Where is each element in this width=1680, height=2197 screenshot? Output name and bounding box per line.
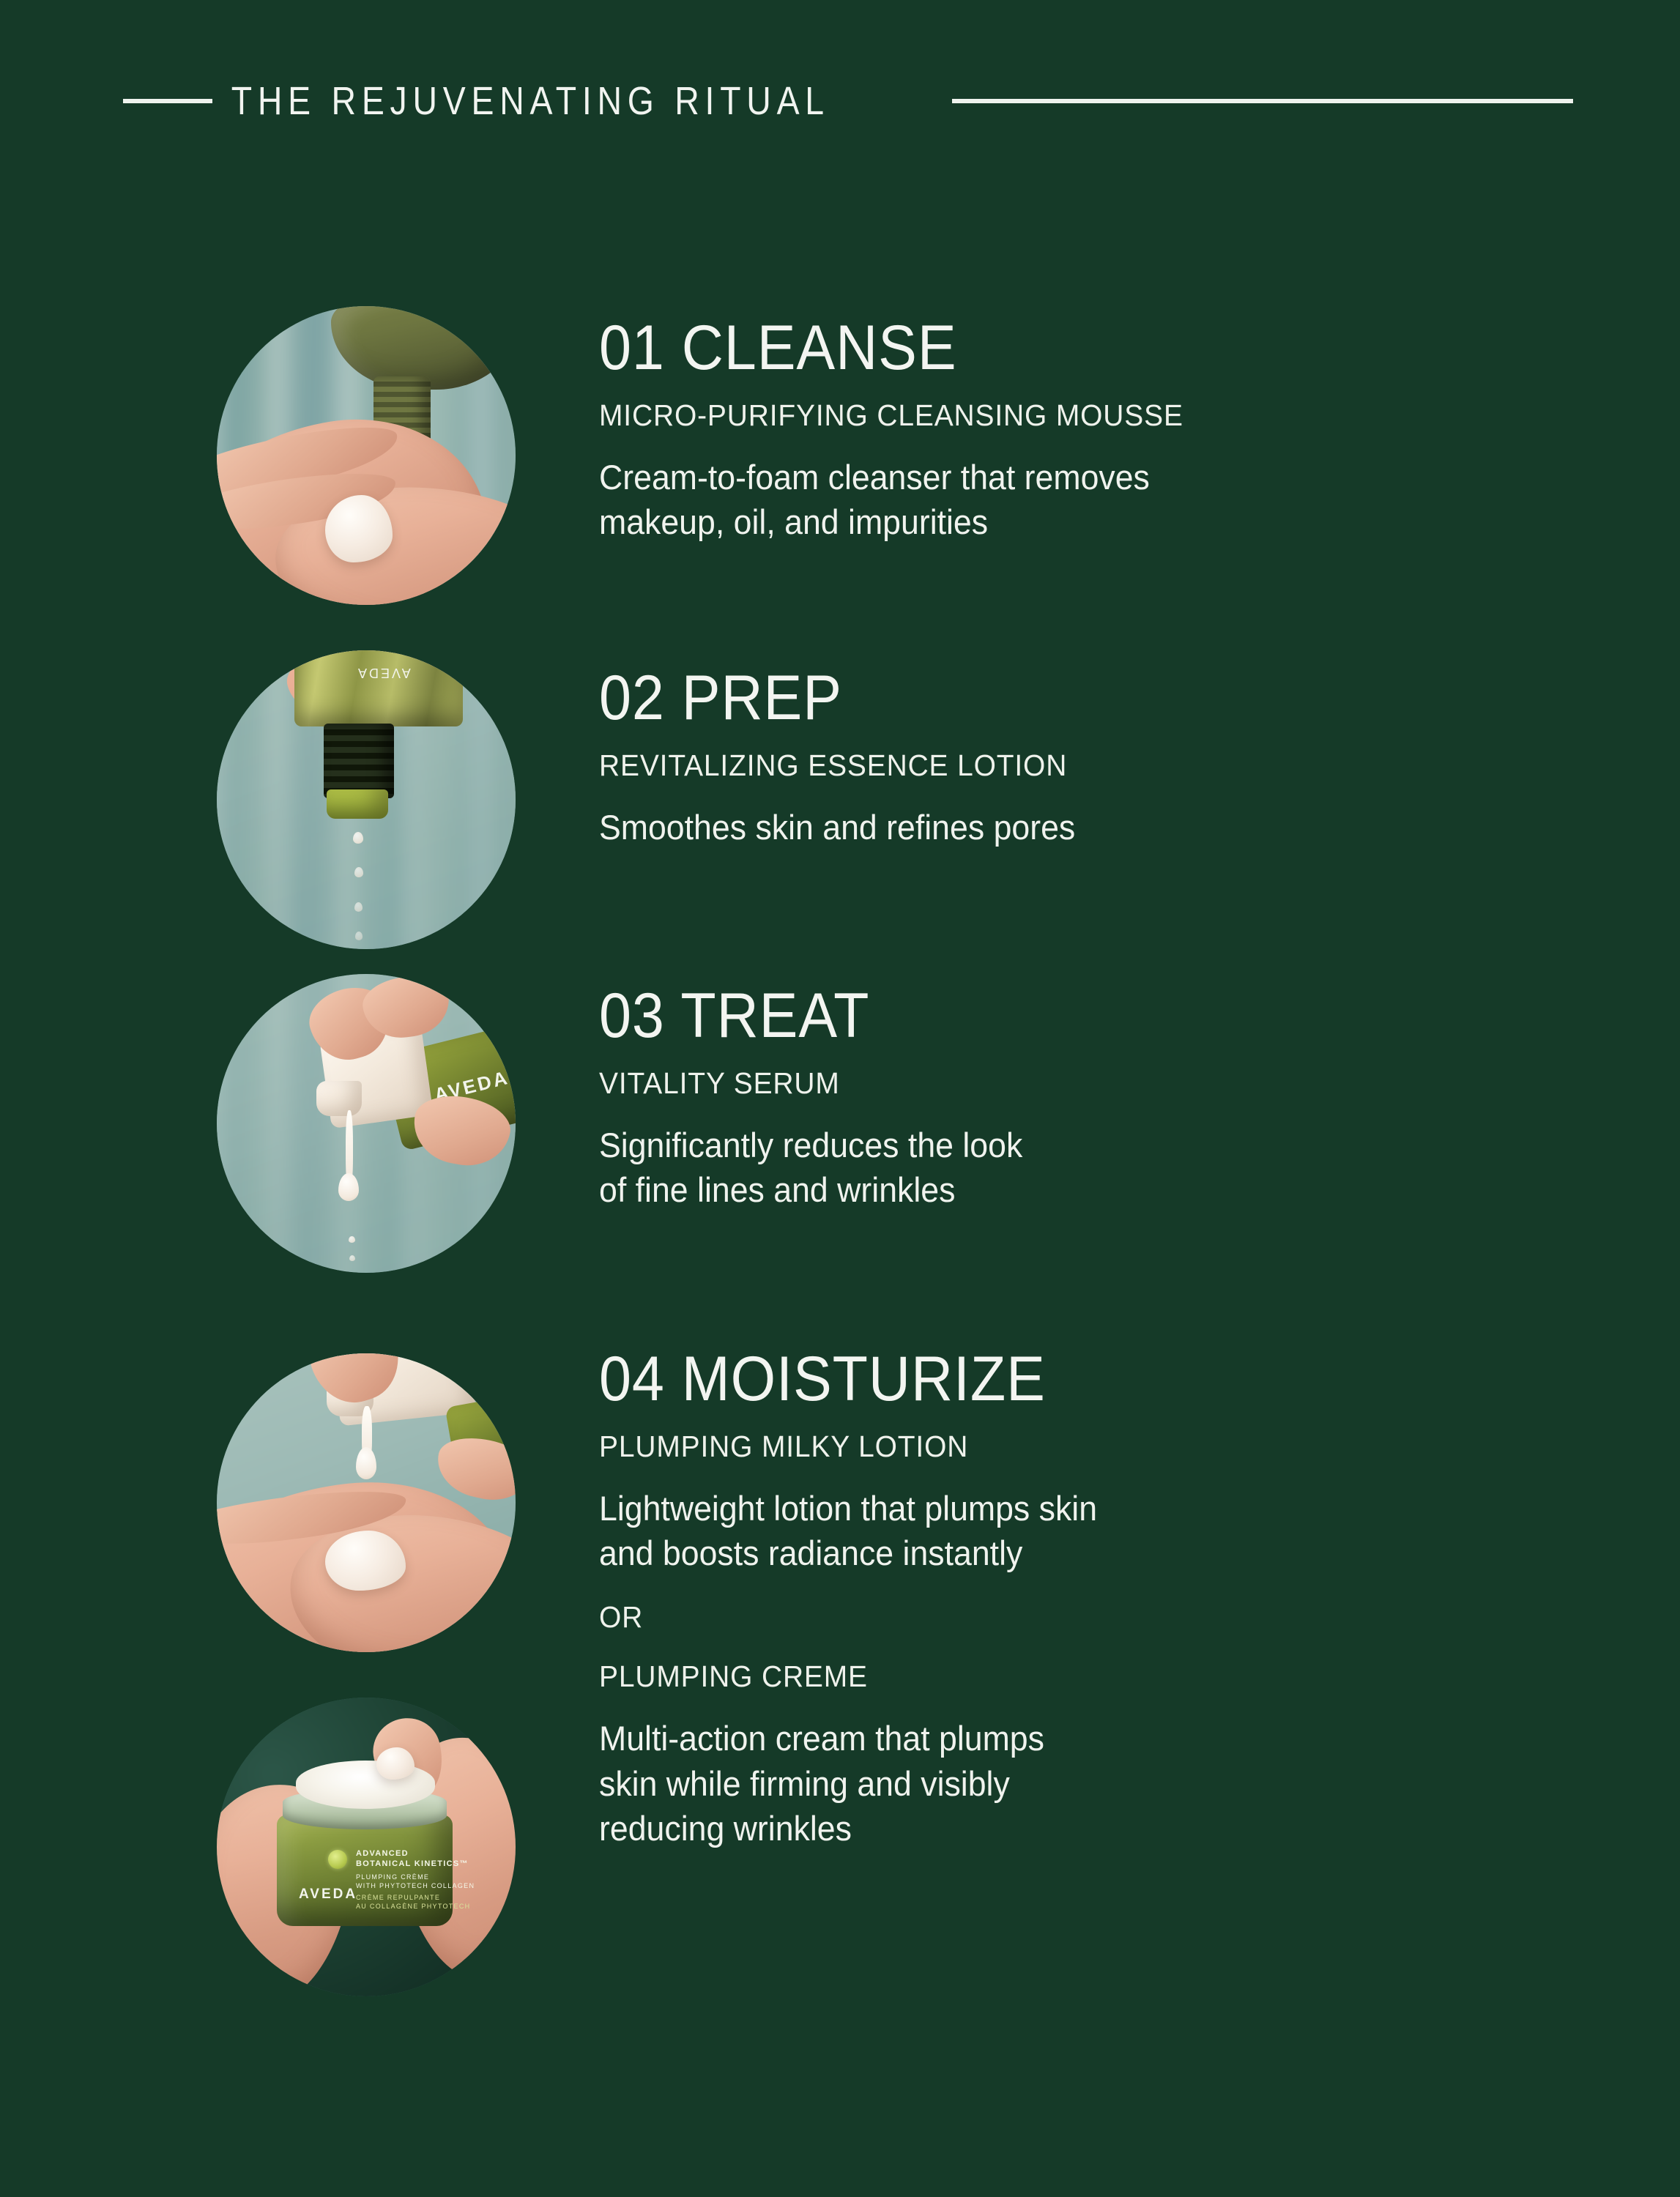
- step-04-photo-alt: ADVANCED BOTANICAL KINETICS™ PLUMPING CR…: [217, 1698, 516, 1996]
- jar-label-line-2: BOTANICAL KINETICS™: [356, 1859, 469, 1869]
- bottle-brand-02: AVEDA: [356, 665, 411, 680]
- jar-label-line-3: PLUMPING CRÈME: [356, 1873, 475, 1882]
- jar-label-line-4: WITH PHYTOTECH COLLAGEN: [356, 1882, 475, 1891]
- step-02-title: 02 PREP: [599, 666, 1495, 729]
- step-01-photo: [217, 306, 516, 605]
- step-04-or-label: OR: [599, 1600, 1525, 1635]
- jar-label-line-6: AU COLLAGÈNE PHYTOTECH: [356, 1903, 470, 1911]
- step-03-copy: 03 TREAT VITALITY SERUM Significantly re…: [599, 984, 1573, 1212]
- step-01-product: MICRO-PURIFYING CLEANSING MOUSSE: [599, 398, 1525, 433]
- leaf-badge-icon: [328, 1850, 347, 1869]
- jar-label-line-5: CRÈME REPULPANTE: [356, 1894, 470, 1903]
- step-04-alt-product: PLUMPING CREME: [599, 1659, 1525, 1694]
- step-03-title: 03 TREAT: [599, 984, 1495, 1047]
- step-03-product: VITALITY SERUM: [599, 1066, 1525, 1101]
- step-01-description: Cream-to-foam cleanser that removes make…: [599, 455, 1525, 544]
- step-04-product: PLUMPING MILKY LOTION: [599, 1430, 1525, 1464]
- step-02-copy: 02 PREP REVITALIZING ESSENCE LOTION Smoo…: [599, 666, 1573, 850]
- jar-label-line-1: ADVANCED: [356, 1848, 469, 1859]
- jar-brand: AVEDA: [299, 1886, 357, 1903]
- step-02-photo: AVEDA: [217, 650, 516, 949]
- step-03-description: Significantly reduces the look of fine l…: [599, 1123, 1525, 1212]
- step-01-copy: 01 CLEANSE MICRO-PURIFYING CLEANSING MOU…: [599, 316, 1573, 544]
- ritual-poster: THE REJUVENATING RITUAL: [0, 0, 1680, 2197]
- step-04-copy: 04 MOISTURIZE PLUMPING MILKY LOTION Ligh…: [599, 1347, 1573, 1851]
- step-02-product: REVITALIZING ESSENCE LOTION: [599, 748, 1525, 783]
- step-02-description: Smoothes skin and refines pores: [599, 805, 1525, 850]
- step-04-description: Lightweight lotion that plumps skin and …: [599, 1486, 1525, 1575]
- step-04-alt-description: Multi-action cream that plumps skin whil…: [599, 1716, 1525, 1850]
- step-04-title: 04 MOISTURIZE: [599, 1347, 1495, 1410]
- step-04-photo: [217, 1353, 516, 1652]
- step-01-title: 01 CLEANSE: [599, 316, 1495, 379]
- step-03-photo: AVEDA: [217, 974, 516, 1273]
- ritual-steps: 01 CLEANSE MICRO-PURIFYING CLEANSING MOU…: [0, 0, 1680, 2197]
